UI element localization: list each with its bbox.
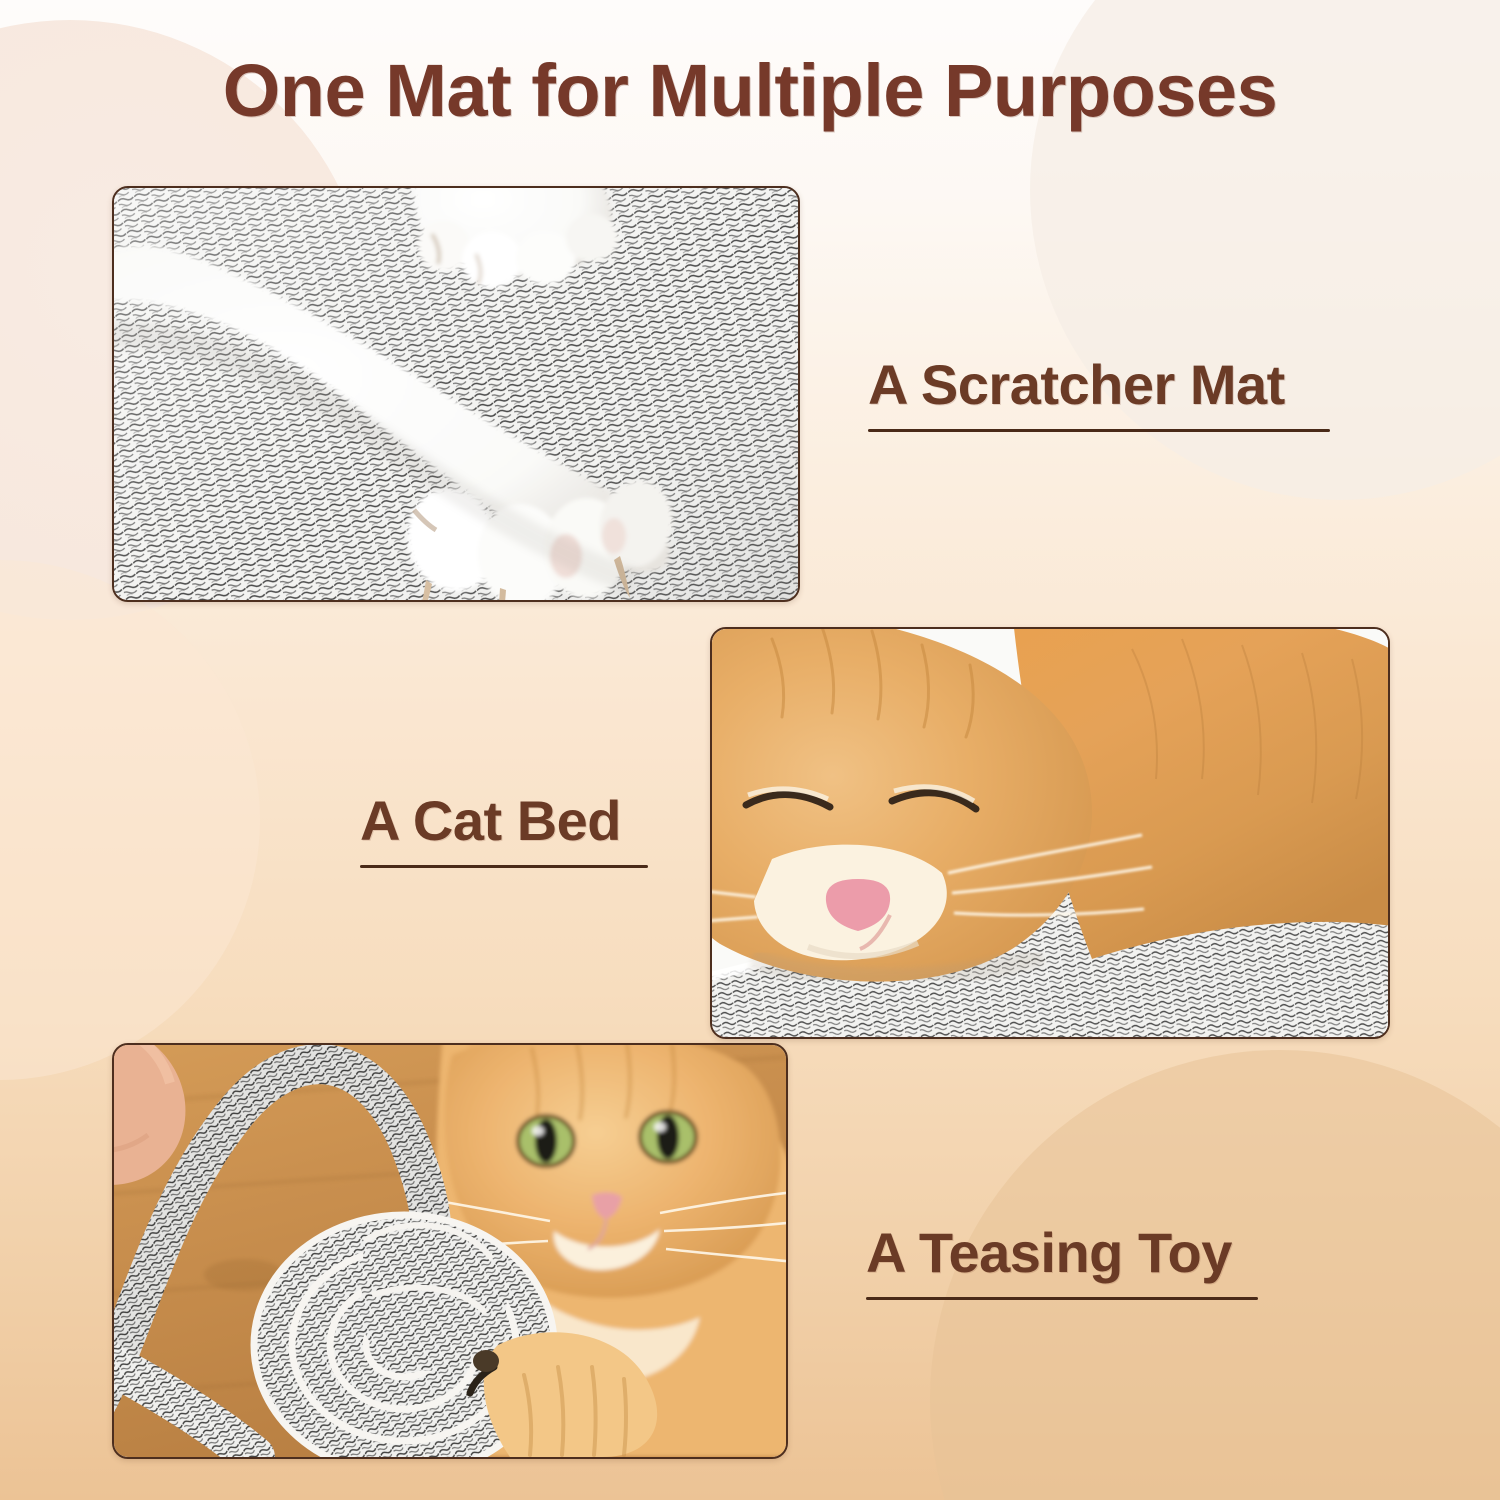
caption-bed-label: A Cat Bed [360,792,648,851]
caption-scratcher-label: A Scratcher Mat [868,356,1330,415]
photo-scratcher-mat [112,186,800,602]
caption-toy-underline [866,1297,1258,1300]
photo-cat-bed [710,627,1390,1039]
photo-teasing-toy [112,1043,788,1459]
infographic-canvas: One Mat for Multiple Purposes [0,0,1500,1500]
caption-teasing-toy: A Teasing Toy [866,1224,1258,1300]
caption-cat-bed: A Cat Bed [360,792,648,868]
decorative-circle-middle-left [0,560,260,1080]
caption-toy-label: A Teasing Toy [866,1224,1258,1283]
page-title: One Mat for Multiple Purposes [0,48,1500,133]
caption-scratcher-underline [868,429,1330,432]
caption-scratcher-mat: A Scratcher Mat [868,356,1330,432]
caption-bed-underline [360,865,648,868]
